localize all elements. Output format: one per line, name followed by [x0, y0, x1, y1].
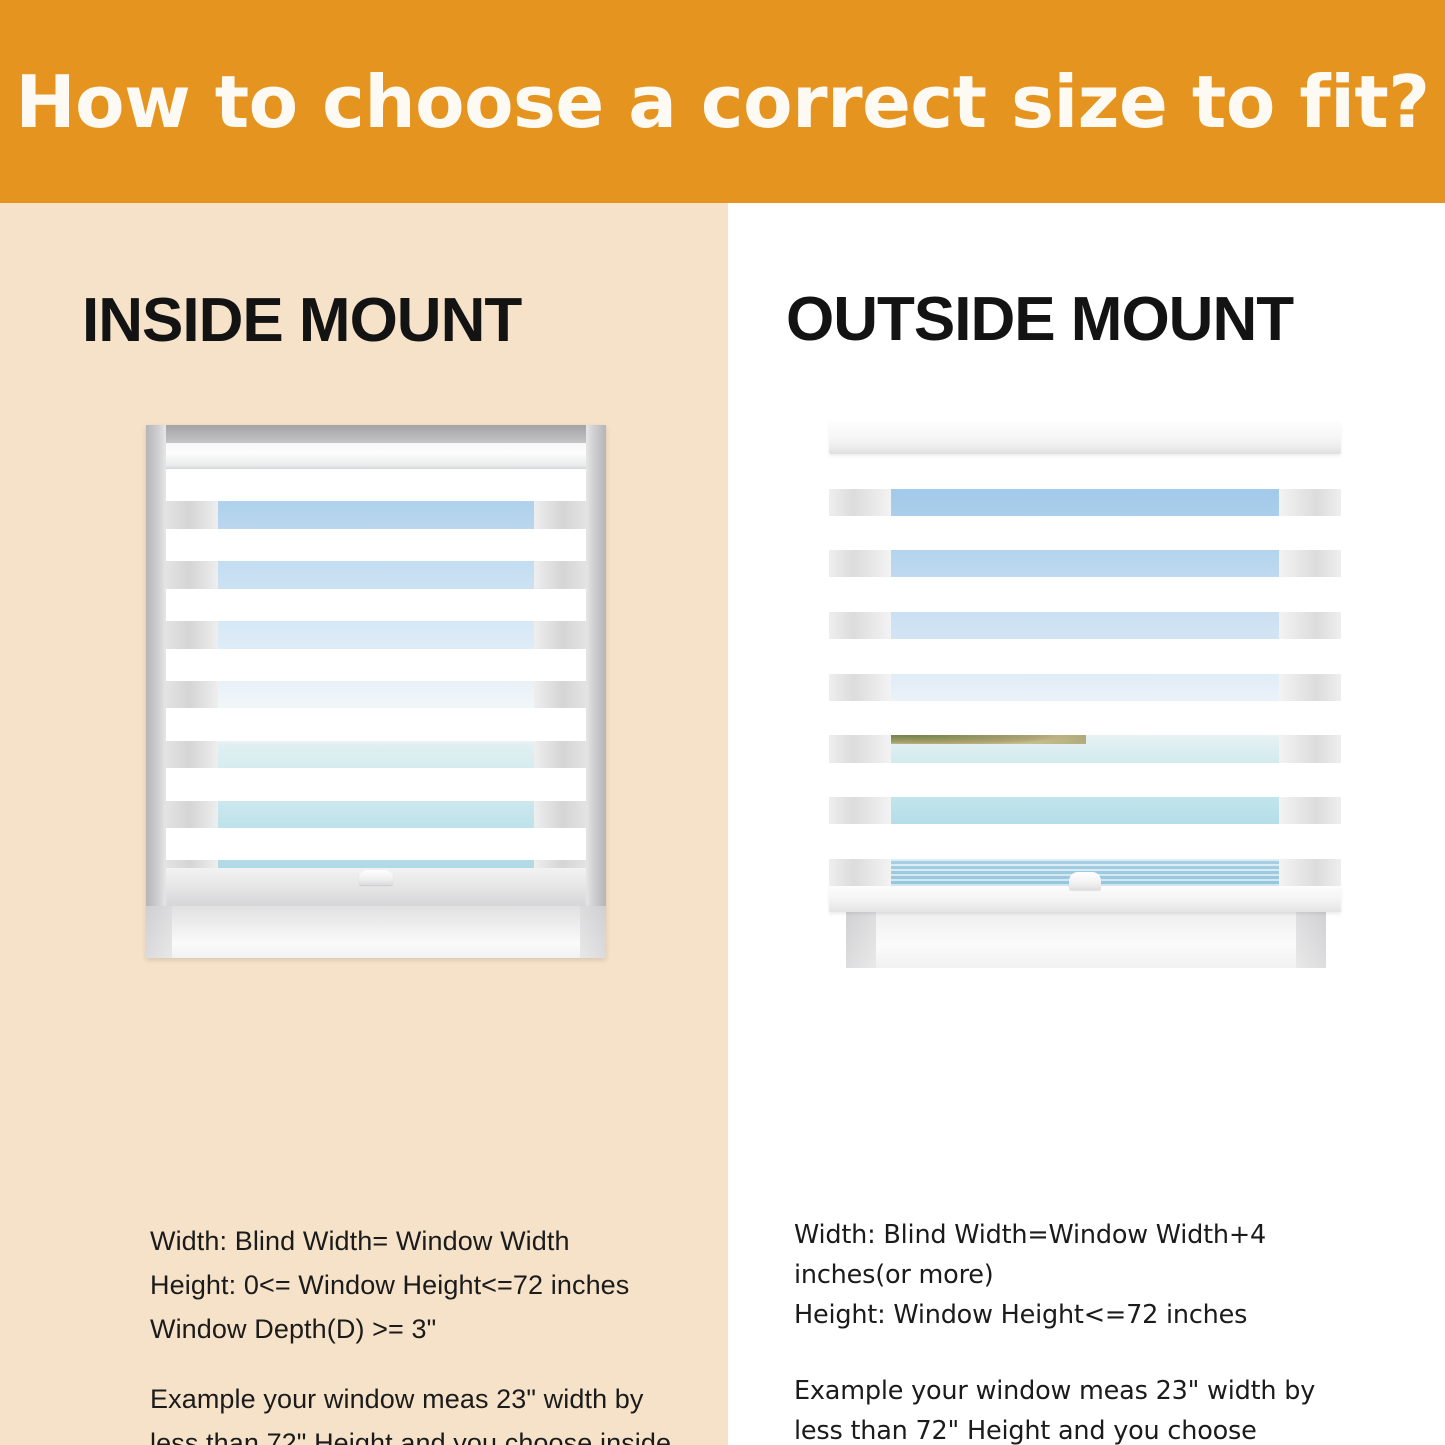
blind-opaque-band	[166, 529, 586, 561]
example-inside-mount: Example your window meas 23" width by le…	[150, 1377, 695, 1445]
blind-sheer-band	[166, 681, 586, 709]
outside-mount-window-illustration	[824, 422, 1348, 968]
blind-side-tab-right	[534, 561, 586, 589]
blind-opaque-band	[166, 708, 586, 740]
blind-side-tab-right	[1279, 797, 1341, 824]
blind-side-tab-right	[534, 621, 586, 649]
example-outside-mount: Example your window meas 23" width by le…	[794, 1371, 1354, 1445]
blind-sheer-band	[166, 501, 586, 529]
specs-inside-mount: Width: Blind Width= Window Width Height:…	[150, 1219, 710, 1351]
blind-side-tab-right	[1279, 859, 1341, 886]
blind-opaque-band	[166, 768, 586, 800]
zebra-blind-bands	[829, 454, 1341, 886]
blind-opaque-band	[166, 649, 586, 681]
blind-sheer-band	[829, 550, 1341, 577]
blind-opaque-band	[829, 824, 1341, 859]
blind-handle[interactable]	[359, 870, 393, 885]
window-glass-area	[166, 443, 586, 888]
blind-opaque-band	[829, 454, 1341, 489]
blind-side-tab-left	[166, 681, 218, 709]
blind-side-tab-left	[166, 741, 218, 769]
blind-side-tab-right	[534, 501, 586, 529]
panel-outside-mount: OUTSIDE MOUNT Width: Blind Width=Window …	[728, 203, 1445, 1445]
blind-bottom-rail	[829, 886, 1341, 912]
window-reveal-right	[586, 425, 606, 958]
blind-side-tab-left	[829, 735, 891, 762]
blind-side-tab-left	[166, 621, 218, 649]
blind-handle[interactable]	[1069, 872, 1101, 890]
blind-side-tab-left	[166, 561, 218, 589]
blind-sheer-band	[829, 612, 1341, 639]
blind-side-tab-left	[166, 501, 218, 529]
heading-inside-mount: INSIDE MOUNT	[82, 290, 521, 352]
blind-side-tab-right	[534, 681, 586, 709]
blind-side-tab-right	[534, 801, 586, 829]
page-title: How to choose a correct size to fit?	[15, 66, 1429, 138]
infographic-page: How to choose a correct size to fit? INS…	[0, 0, 1445, 1445]
window-reveal-top	[146, 425, 606, 443]
blind-side-tab-right	[534, 741, 586, 769]
blind-sheer-band	[829, 489, 1341, 516]
blind-headrail	[829, 422, 1341, 454]
blind-sheer-band	[166, 741, 586, 769]
blind-side-tab-left	[166, 801, 218, 829]
blind-side-tab-right	[1279, 612, 1341, 639]
blind-sheer-band	[166, 801, 586, 829]
blind-sheer-band	[829, 797, 1341, 824]
blind-opaque-band	[166, 828, 586, 860]
blind-side-tab-left	[829, 550, 891, 577]
panel-inside-mount: INSIDE MOUNT Width: Blind Width= Window …	[0, 203, 728, 1445]
inside-mount-window-illustration	[146, 425, 606, 958]
blind-side-tab-left	[829, 674, 891, 701]
blind-side-tab-left	[829, 859, 891, 886]
blind-opaque-band	[829, 577, 1341, 612]
blind-sheer-band	[829, 674, 1341, 701]
zebra-blind-bands	[166, 469, 586, 888]
window-sill	[146, 906, 606, 958]
blind-side-tab-right	[1279, 550, 1341, 577]
blind-bottom-rail	[166, 868, 586, 906]
blind-opaque-band	[829, 763, 1341, 798]
blind-sheer-band	[829, 735, 1341, 762]
blind-opaque-band	[829, 516, 1341, 551]
blind-opaque-band	[829, 639, 1341, 674]
specs-outside-mount: Width: Blind Width=Window Width+4 inches…	[794, 1215, 1339, 1335]
blind-sheer-band	[166, 621, 586, 649]
blind-side-tab-right	[1279, 489, 1341, 516]
blind-headrail	[166, 443, 586, 469]
blind-side-tab-left	[829, 489, 891, 516]
blind-side-tab-left	[829, 612, 891, 639]
blind-opaque-band	[829, 701, 1341, 736]
header-banner: How to choose a correct size to fit?	[0, 0, 1445, 203]
blind-opaque-band	[166, 469, 586, 501]
blind-side-tab-right	[1279, 735, 1341, 762]
blind-side-tab-right	[1279, 674, 1341, 701]
blind-sheer-band	[166, 561, 586, 589]
blind-opaque-band	[166, 589, 586, 621]
heading-outside-mount: OUTSIDE MOUNT	[786, 289, 1293, 351]
window-reveal-left	[146, 425, 166, 958]
blind-side-tab-left	[829, 797, 891, 824]
